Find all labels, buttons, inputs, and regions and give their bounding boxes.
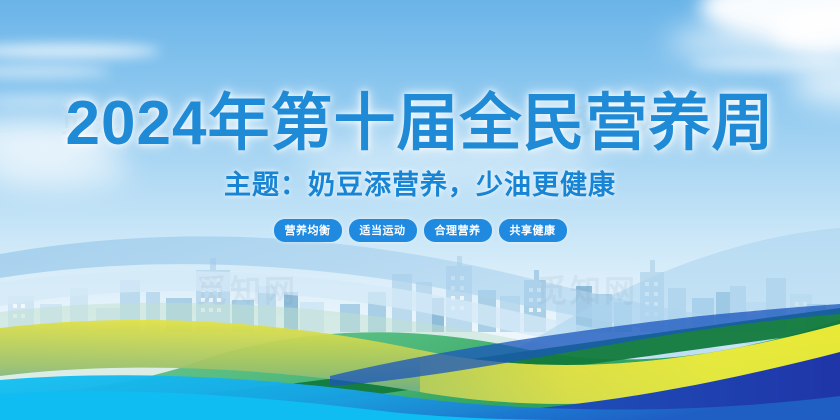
nutrition-week-poster: 觅知网 觅知网 觅知网 觅知网 2024年第十届全民营养周 主题：奶豆添营养，少… (0, 0, 840, 420)
tag-pill: 适当运动 (349, 219, 417, 242)
poster-subtitle: 主题：奶豆添营养，少油更健康 (0, 163, 840, 202)
tag-pill-list: 营养均衡 适当运动 合理营养 共享健康 (0, 219, 840, 242)
wave-illustration (0, 220, 840, 420)
tag-pill: 合理营养 (424, 219, 492, 242)
tag-pill: 营养均衡 (274, 219, 342, 242)
page-title: 2024年第十届全民营养周 (0, 72, 840, 162)
tag-pill: 共享健康 (499, 219, 567, 242)
